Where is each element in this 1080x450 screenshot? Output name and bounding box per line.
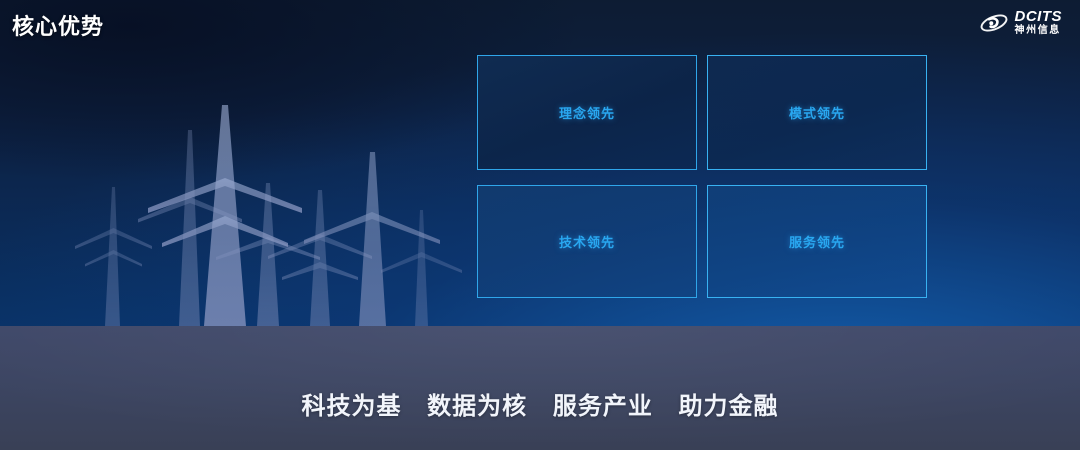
feature-box-2[interactable]: 模式领先 (707, 55, 927, 170)
slide-canvas: 核心优势 DCITS 神州信息 理念领先 模式领先 技术领先 服务领先 (0, 0, 1080, 450)
tagline-segment-4: 助力金融 (679, 393, 779, 420)
brand-name-en: DCITS (1015, 9, 1063, 24)
tagline-segment-3: 服务产业 (553, 393, 653, 420)
tagline-segment-2: 数据为核 (427, 393, 527, 420)
feature-box-4-label: 服务领先 (789, 232, 845, 251)
feature-box-3[interactable]: 技术领先 (477, 185, 697, 298)
tagline-segment-1: 科技为基 (301, 393, 401, 420)
feature-box-1[interactable]: 理念领先 (477, 55, 697, 170)
brand-logo: DCITS 神州信息 (979, 9, 1063, 36)
feature-box-1-label: 理念领先 (559, 103, 615, 122)
brand-wordmark: DCITS 神州信息 (1015, 9, 1063, 36)
tagline: 科技为基 数据为核 服务产业 助力金融 (0, 386, 1080, 421)
page-title: 核心优势 (12, 9, 104, 41)
feature-box-4[interactable]: 服务领先 (707, 185, 927, 298)
feature-box-2-label: 模式领先 (789, 103, 845, 122)
feature-grid: 理念领先 模式领先 技术领先 服务领先 (477, 55, 927, 298)
swoosh-orbit-icon (979, 12, 1009, 34)
feature-box-3-label: 技术领先 (559, 232, 615, 251)
brand-name-cn: 神州信息 (1015, 26, 1061, 36)
